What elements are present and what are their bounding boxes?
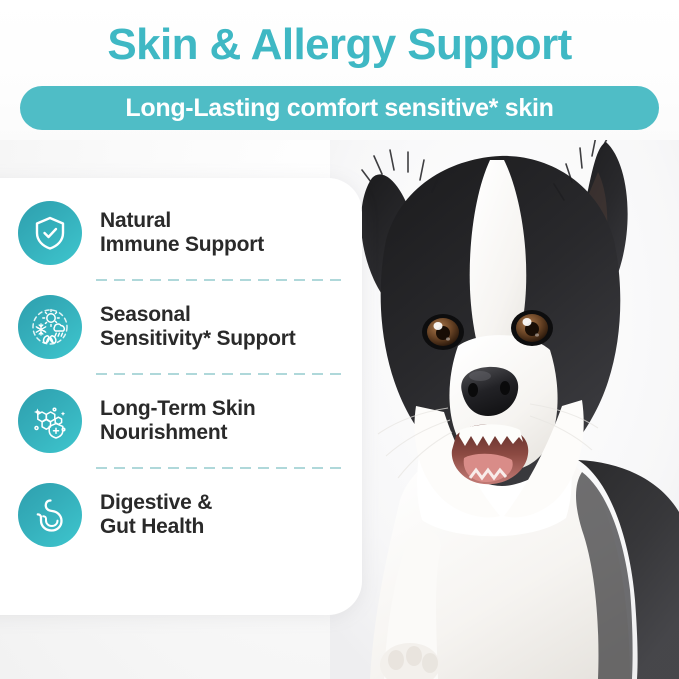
feature-divider bbox=[96, 467, 344, 469]
feature-label: Natural Immune Support bbox=[100, 209, 264, 258]
feature-card: Natural Immune Support bbox=[0, 178, 362, 615]
feature-divider bbox=[96, 279, 344, 281]
header: Skin & Allergy Support Long-Lasting comf… bbox=[0, 0, 679, 140]
product-feature-graphic: Natural Immune Support bbox=[0, 0, 679, 679]
four-seasons-icon bbox=[18, 295, 82, 359]
dog-photo bbox=[330, 120, 679, 679]
shield-check-icon bbox=[18, 201, 82, 265]
subtitle-banner: Long-Lasting comfort sensitive* skin bbox=[20, 86, 659, 130]
feature-item-long-term-skin-nourishment: Long-Term Skin Nourishment bbox=[0, 378, 362, 464]
feature-label: Long-Term Skin Nourishment bbox=[100, 397, 255, 446]
feature-divider bbox=[96, 373, 344, 375]
feature-item-seasonal-sensitivity-support: Seasonal Sensitivity* Support bbox=[0, 284, 362, 370]
stomach-icon bbox=[18, 483, 82, 547]
feature-item-natural-immune-support: Natural Immune Support bbox=[0, 190, 362, 276]
feature-list: Natural Immune Support bbox=[0, 178, 362, 615]
page-title: Skin & Allergy Support bbox=[0, 22, 679, 68]
feature-label: Seasonal Sensitivity* Support bbox=[100, 303, 296, 352]
skin-cells-shield-icon bbox=[18, 389, 82, 453]
subtitle-text: Long-Lasting comfort sensitive* skin bbox=[125, 94, 553, 123]
feature-label: Digestive & Gut Health bbox=[100, 491, 212, 540]
feature-item-digestive-gut-health: Digestive & Gut Health bbox=[0, 472, 362, 558]
